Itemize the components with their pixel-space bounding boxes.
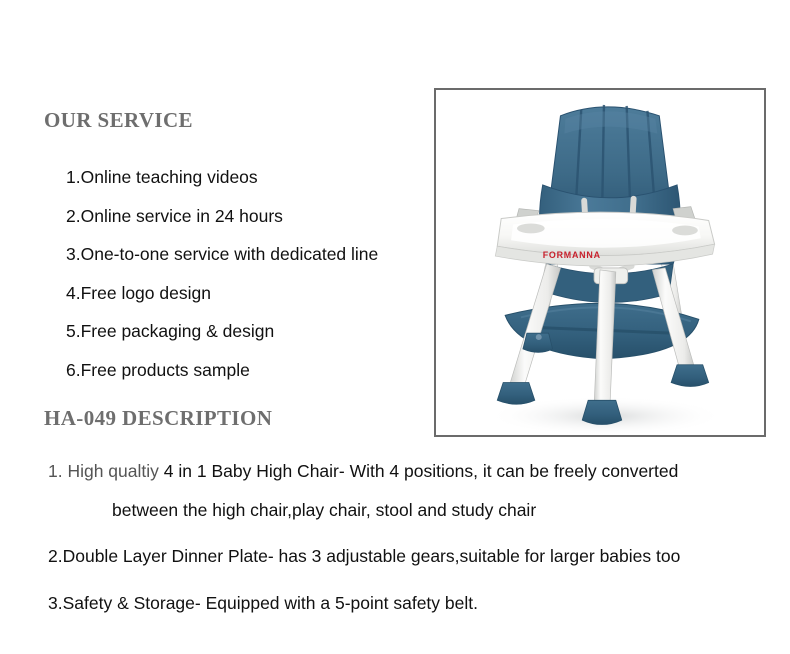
description-line-1-continued: between the high chair,play chair, stool…	[112, 487, 788, 533]
tray-table: FORMANNA	[495, 207, 714, 266]
description-heading: HA-049 DESCRIPTION	[44, 406, 272, 431]
description-line-3: 3.Safety & Storage- Equipped with a 5-po…	[48, 580, 788, 627]
description-block: 1. High qualtiy 4 in 1 Baby High Chair- …	[48, 456, 788, 627]
description-line-1: 1. High qualtiy 4 in 1 Baby High Chair- …	[48, 456, 788, 487]
description-line-1-lead: 1. High qualtiy	[48, 461, 159, 481]
service-list-item: 5.Free packaging & design	[66, 312, 378, 351]
service-list: 1.Online teaching videos 2.Online servic…	[66, 158, 378, 390]
baby-high-chair-illustration: FORMANNA	[436, 90, 764, 435]
service-list-item: 4.Free logo design	[66, 274, 378, 313]
service-list-item: 3.One-to-one service with dedicated line	[66, 235, 378, 274]
tray-brand-label: FORMANNA	[543, 250, 601, 260]
service-list-item: 1.Online teaching videos	[66, 158, 378, 197]
description-line-1-rest: 4 in 1 Baby High Chair- With 4 positions…	[164, 461, 679, 481]
description-line-2: 2.Double Layer Dinner Plate- has 3 adjus…	[48, 533, 788, 580]
our-service-heading: OUR SERVICE	[44, 108, 193, 133]
product-image-frame: FORMANNA	[434, 88, 766, 437]
service-list-item: 6.Free products sample	[66, 351, 378, 390]
service-list-item: 2.Online service in 24 hours	[66, 197, 378, 236]
